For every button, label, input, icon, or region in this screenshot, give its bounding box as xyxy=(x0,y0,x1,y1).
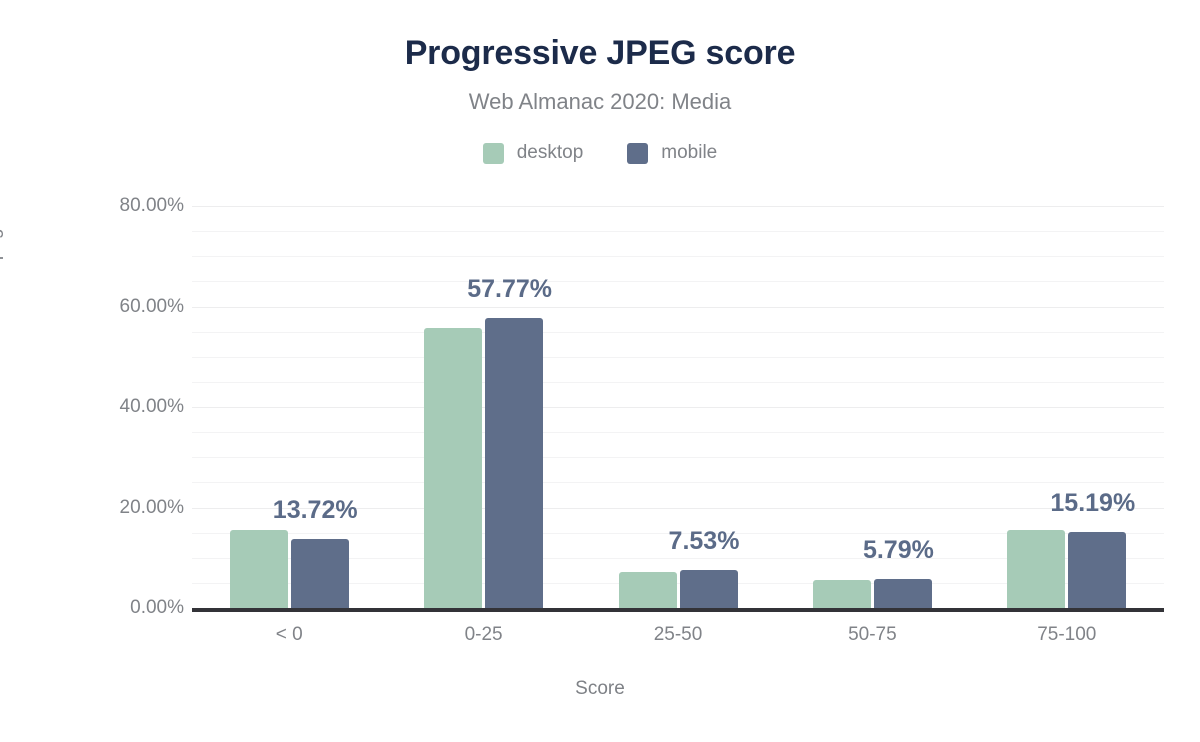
bar-desktop-2[interactable] xyxy=(619,572,677,608)
data-label-3: 5.79% xyxy=(863,536,934,564)
y-axis-tick-label: 80.00% xyxy=(14,196,184,216)
gridline xyxy=(192,382,1164,383)
x-axis-tick-label: < 0 xyxy=(276,624,303,646)
chart-title: Progressive JPEG score xyxy=(0,32,1200,74)
chart-legend: desktopmobile xyxy=(0,142,1200,164)
x-axis-title: Score xyxy=(0,678,1200,700)
y-axis-tick-label: 60.00% xyxy=(14,297,184,317)
gridline xyxy=(192,432,1164,433)
gridline xyxy=(192,407,1164,408)
gridline xyxy=(192,482,1164,483)
gridline xyxy=(192,307,1164,308)
data-label-0: 13.72% xyxy=(273,496,358,524)
gridline xyxy=(192,256,1164,257)
y-axis-tick-labels: 0.00%20.00%40.00%60.00%80.00% xyxy=(14,206,184,608)
bar-mobile-2[interactable] xyxy=(680,570,738,608)
legend-item-mobile[interactable]: mobile xyxy=(627,142,717,164)
bar-mobile-0[interactable] xyxy=(291,539,349,608)
data-label-1: 57.77% xyxy=(467,275,552,303)
gridline xyxy=(192,357,1164,358)
gridline xyxy=(192,206,1164,207)
bar-desktop-0[interactable] xyxy=(230,530,288,608)
y-axis-tick-label: 0.00% xyxy=(14,598,184,618)
bar-desktop-1[interactable] xyxy=(424,328,482,608)
legend-label-desktop: desktop xyxy=(517,142,584,164)
gridline xyxy=(192,457,1164,458)
data-label-2: 7.53% xyxy=(669,527,740,555)
y-axis-tick-label: 40.00% xyxy=(14,397,184,417)
bar-desktop-3[interactable] xyxy=(813,580,871,608)
gridline xyxy=(192,281,1164,282)
bar-mobile-3[interactable] xyxy=(874,579,932,608)
gridline xyxy=(192,332,1164,333)
plot-area: 13.72%57.77%7.53%5.79%15.19% xyxy=(192,206,1164,608)
data-label-4: 15.19% xyxy=(1050,489,1135,517)
legend-label-mobile: mobile xyxy=(661,142,717,164)
y-axis-tick-label: 20.00% xyxy=(14,498,184,518)
bar-desktop-4[interactable] xyxy=(1007,530,1065,608)
x-axis-tick-label: 75-100 xyxy=(1037,624,1096,646)
bar-mobile-1[interactable] xyxy=(485,318,543,608)
legend-swatch-desktop xyxy=(483,143,504,164)
x-axis-baseline xyxy=(192,608,1164,612)
y-axis-title: Percent of pages xyxy=(0,208,4,352)
legend-item-desktop[interactable]: desktop xyxy=(483,142,584,164)
chart-container: Progressive JPEG score Web Almanac 2020:… xyxy=(0,0,1200,742)
chart-subtitle: Web Almanac 2020: Media xyxy=(0,88,1200,116)
gridline xyxy=(192,231,1164,232)
bar-mobile-4[interactable] xyxy=(1068,532,1126,608)
legend-swatch-mobile xyxy=(627,143,648,164)
x-axis-tick-label: 50-75 xyxy=(848,624,897,646)
x-axis-tick-label: 25-50 xyxy=(654,624,703,646)
x-axis-tick-label: 0-25 xyxy=(465,624,503,646)
